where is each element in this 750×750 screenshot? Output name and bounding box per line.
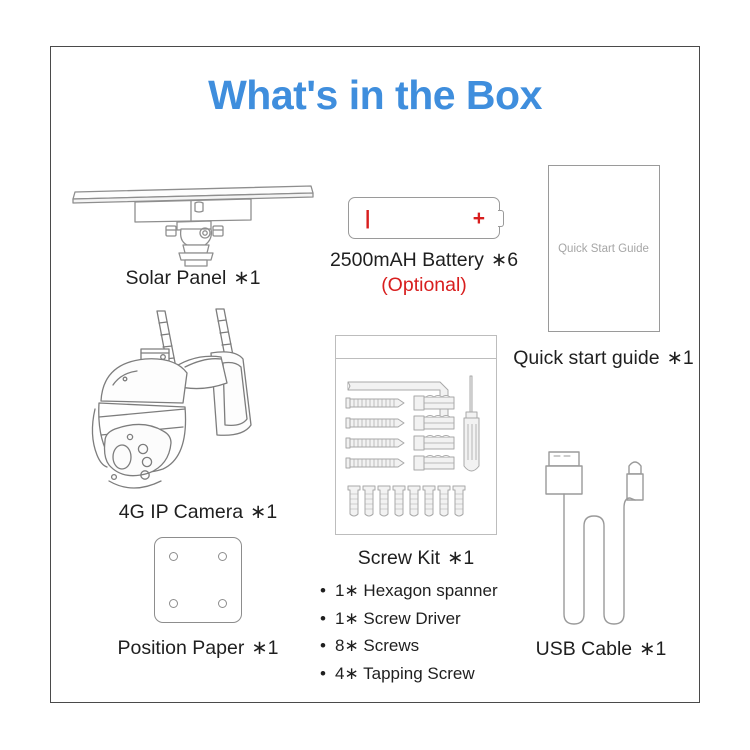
battery-optional-note: (Optional) (309, 272, 539, 298)
solar-panel-icon (65, 167, 321, 267)
list-item: 8∗ Screws (320, 632, 526, 660)
item-quick-start-guide: Quick Start Guide Quick start guide∗1 (506, 165, 701, 370)
item-screw-kit: Screw Kit∗1 1∗ Hexagon spanner 1∗ Screw … (306, 335, 526, 688)
screw-kit-bag (335, 335, 497, 535)
item-usb-cable: USB Cable∗1 (501, 442, 701, 661)
item-label: Position Paper (117, 637, 244, 659)
content-frame: What's in the Box (50, 46, 700, 703)
list-item: 1∗ Hexagon spanner (320, 577, 526, 605)
page-title: What's in the Box (51, 75, 699, 116)
list-item: 4∗ Tapping Screw (320, 660, 526, 688)
item-position-paper: Position Paper∗1 (83, 537, 313, 660)
item-qty: ∗1 (639, 638, 666, 660)
ptz-camera-icon (73, 305, 323, 501)
item-label: Solar Panel (125, 267, 226, 289)
usb-cable-icon (501, 442, 701, 638)
item-label: 4G IP Camera (119, 501, 243, 523)
item-caption: 4G IP Camera∗1 (73, 501, 323, 524)
item-caption: 2500mAH Battery∗6 (309, 249, 539, 272)
item-qty: ∗1 (667, 347, 694, 369)
item-caption: Position Paper∗1 (83, 637, 313, 660)
screw-kit-contents-list: 1∗ Hexagon spanner 1∗ Screw Driver 8∗ Sc… (320, 577, 526, 687)
item-label: Quick start guide (513, 347, 659, 369)
item-battery: | + 2500mAH Battery∗6 (Optional) (309, 187, 539, 299)
item-caption: Quick start guide∗1 (506, 347, 701, 370)
item-label: Screw Kit (358, 547, 440, 569)
item-caption: USB Cable∗1 (501, 638, 701, 661)
mount-hole (169, 599, 178, 608)
bag-seal-line (335, 358, 498, 359)
battery-negative-terminal: | (365, 209, 370, 228)
item-ip-camera: 4G IP Camera∗1 (73, 305, 323, 524)
mount-hole (218, 552, 227, 561)
item-qty: ∗1 (251, 637, 278, 659)
battery-cap (498, 210, 504, 227)
item-solar-panel: Solar Panel∗1 (65, 167, 321, 290)
booklet-cover-text: Quick Start Guide (558, 243, 649, 255)
item-qty: ∗1 (233, 267, 260, 289)
packaging-infographic: What's in the Box (0, 0, 750, 750)
item-qty: ∗1 (447, 547, 474, 569)
screw-kit-bag-icon (306, 335, 526, 543)
item-caption: Solar Panel∗1 (65, 267, 321, 290)
item-qty: ∗1 (250, 501, 277, 523)
mount-hole (169, 552, 178, 561)
mount-hole (218, 599, 227, 608)
list-item: 1∗ Screw Driver (320, 605, 526, 633)
battery-positive-terminal: + (473, 208, 485, 229)
booklet-icon: Quick Start Guide (506, 165, 701, 347)
battery-body: | + (348, 197, 500, 239)
item-label: 2500mAH Battery (330, 249, 484, 271)
position-paper-icon (83, 537, 313, 637)
item-caption: Screw Kit∗1 (306, 547, 526, 570)
item-label: USB Cable (536, 638, 632, 660)
battery-icon: | + (309, 187, 539, 249)
position-paper-sheet (154, 537, 242, 623)
booklet-cover: Quick Start Guide (548, 165, 660, 332)
